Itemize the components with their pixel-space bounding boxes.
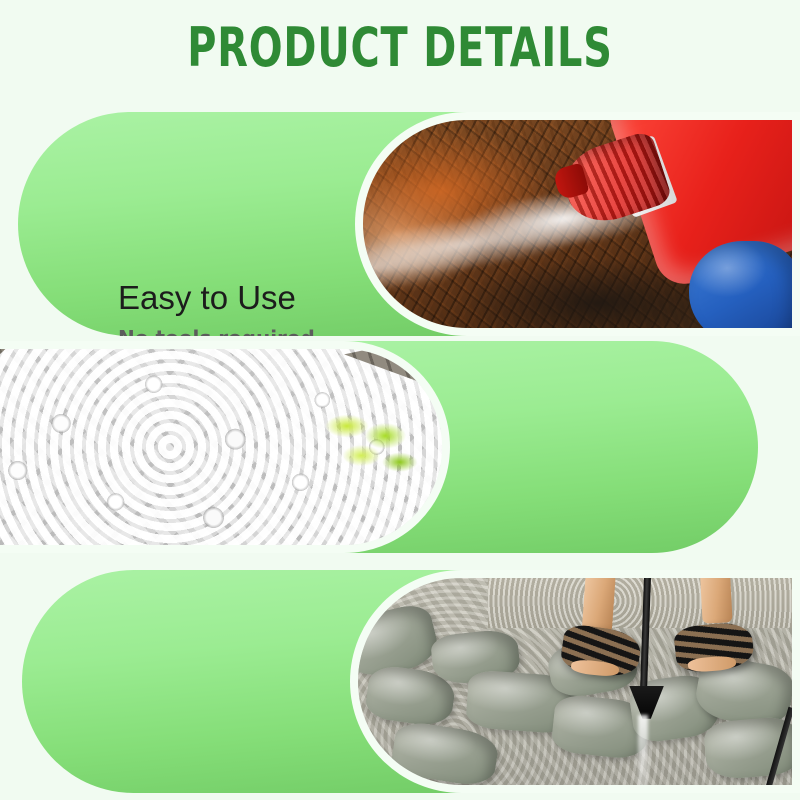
card-photo-frame <box>350 570 800 793</box>
card-heading: Easy to Use <box>118 280 322 316</box>
card-photo-frame <box>0 341 450 553</box>
card-text-block: Easy to Use No tools required, quick app… <box>118 280 322 336</box>
spray-bottle-on-mulch-photo <box>363 120 792 328</box>
background-gravel <box>488 578 792 628</box>
feature-card-easy-to-use: Easy to Use No tools required, quick app… <box>0 112 800 336</box>
green-plant <box>311 408 431 490</box>
water-jet <box>638 715 648 785</box>
card-photo-frame <box>355 112 800 336</box>
leg <box>581 578 616 633</box>
page-title: PRODUCT DETAILS <box>72 16 728 79</box>
white-gravel-photo <box>0 349 442 545</box>
card-subtext: No tools required, quick application <box>118 326 322 336</box>
stones-with-sprayer-wand-photo <box>358 578 792 785</box>
leg <box>699 578 733 624</box>
feature-card-high-adhesive-strength: High-Adhesive Strength Keeps mulch firml… <box>0 341 800 553</box>
feature-card-weather-resistant-performance: Weather-Resistant Performance Stands up … <box>0 570 800 793</box>
